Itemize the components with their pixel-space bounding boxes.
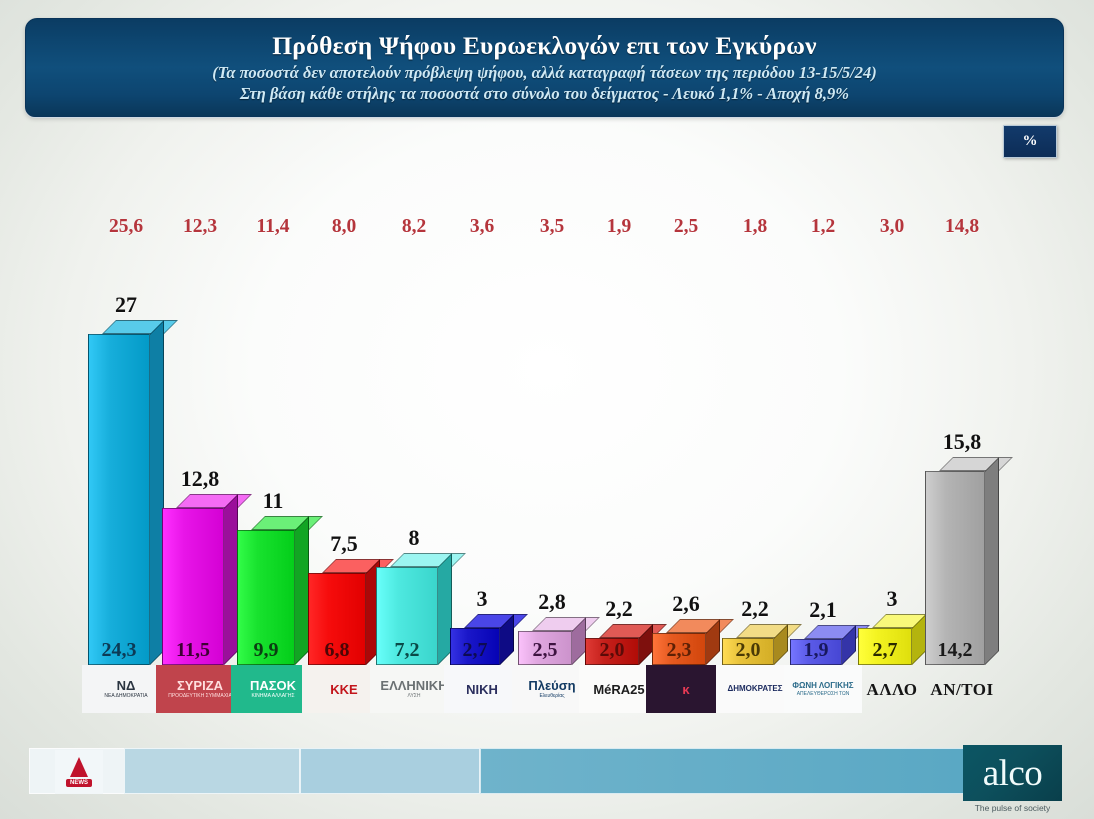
- bar-stack-pasok: 9,9: [237, 530, 309, 665]
- party-logo-box-niki: ΝΙΚΗ: [444, 665, 520, 713]
- party-logo-name-pasok: ΠΑΣΟΚ: [250, 679, 296, 692]
- bar-body-syriza: 11,512,8: [162, 494, 238, 665]
- bar-top-value-elliniki: 8: [376, 525, 452, 551]
- party-logo-name-mera25: MéRA25: [593, 683, 644, 696]
- party-logo-dimokrates: ΔΗΜΟΚΡΑΤΕΣ: [716, 665, 794, 713]
- bar-body-elliniki: 7,28: [376, 553, 452, 665]
- news-label: NEWS: [66, 779, 92, 787]
- bar-top-value-foni-logikis: 2,1: [790, 597, 856, 623]
- top-percent-antoi: 14,8: [913, 216, 1011, 238]
- bar-column-antoi[interactable]: 14,215,8: [925, 457, 999, 665]
- bar-sample-value-dimokrates: 2,0: [723, 639, 773, 662]
- party-logo-foni-logikis: ΦΩΝΗ ΛΟΓΙΚΗΣΑΠΕΛΕΥΘΕΡΩΣΗ ΤΩΝ: [784, 665, 862, 713]
- banner-segment-4: [480, 748, 965, 794]
- bar-sample-value-elliniki: 7,2: [377, 639, 437, 662]
- bar-stack-allo: 2,7: [858, 628, 926, 665]
- bar-stack-mera25: 2,0: [585, 638, 653, 665]
- bar-body-kke-ml: 2,32,6: [652, 619, 720, 665]
- bar-body-antoi: 14,215,8: [925, 457, 999, 665]
- subtitle-line-1: (Τα ποσοστά δεν αποτελούν πρόβλεψη ψήφου…: [26, 63, 1063, 83]
- bar-stack-kke: 6,8: [308, 573, 380, 665]
- bar-body-kke: 6,87,5: [308, 559, 380, 665]
- party-logo-name-niki: ΝΙΚΗ: [466, 683, 498, 696]
- bar-body-allo: 2,73: [858, 614, 926, 665]
- party-logo-subtitle-elliniki: ΛΥΣΗ: [407, 694, 420, 699]
- bar-stack-antoi: 14,2: [925, 471, 999, 665]
- bar-body-foni-logikis: 1,92,1: [790, 625, 856, 665]
- party-logo-niki: ΝΙΚΗ: [444, 665, 520, 713]
- bar-column-pasok[interactable]: 9,911: [237, 516, 309, 665]
- bar-top-value-mera25: 2,2: [585, 596, 653, 622]
- bar-sample-value-niki: 2,7: [451, 639, 499, 662]
- bar-column-plefsi[interactable]: 2,52,8: [518, 617, 586, 665]
- news-channel-logo: NEWS: [55, 750, 103, 794]
- bar-column-nd[interactable]: 24,327: [88, 320, 164, 665]
- bar-body-dimokrates: 2,02,2: [722, 624, 788, 665]
- party-logo-subtitle-syriza: ΠΡΟΟΔΕΥΤΙΚΗ ΣΥΜΜΑΧΙΑ: [168, 694, 232, 699]
- bar-column-syriza[interactable]: 11,512,8: [162, 494, 238, 665]
- bar-front-face-plefsi: 2,5: [518, 631, 572, 665]
- bar-sample-value-nd: 24,3: [89, 639, 149, 662]
- bar-stack-niki: 2,7: [450, 628, 514, 665]
- bar-top-plate-nd: [102, 320, 178, 334]
- bar-top-value-syriza: 12,8: [162, 466, 238, 492]
- bar-column-foni-logikis[interactable]: 1,92,1: [790, 625, 856, 665]
- bar-top-value-kke-ml: 2,6: [652, 591, 720, 617]
- party-logo-subtitle-foni-logikis: ΑΠΕΛΕΥΘΕΡΩΣΗ ΤΩΝ: [797, 692, 850, 697]
- party-logo-name-syriza: ΣΥΡΙΖΑ: [177, 679, 223, 692]
- bar-side-face-pasok: [295, 516, 309, 665]
- alco-wordmark: alco: [983, 755, 1043, 792]
- banner-segment-3: [300, 748, 480, 794]
- bar-front-face-elliniki: 7,2: [376, 567, 438, 665]
- bar-top-value-pasok: 11: [237, 488, 309, 514]
- bar-front-face-pasok: 9,9: [237, 530, 295, 665]
- percent-symbol: %: [1023, 133, 1038, 150]
- party-logo-name-kke-ml: κ: [682, 683, 689, 696]
- bar-top-value-antoi: 15,8: [925, 429, 999, 455]
- party-logo-label-antoi: ΑΝ/ΤΟΙ: [930, 681, 993, 698]
- bar-stack-foni-logikis: 1,9: [790, 639, 856, 665]
- party-logo-name-nd: ΝΔ: [117, 679, 136, 692]
- bar-top-value-dimokrates: 2,2: [722, 596, 788, 622]
- chart-title-banner: Πρόθεση Ψήφου Ευρωεκλογών επι των Εγκύρω…: [25, 18, 1064, 117]
- subtitle-line-2: Στη βάση κάθε στήλης τα ποσοστά στο σύνο…: [26, 84, 1063, 104]
- party-logo-box-antoi: ΑΝ/ΤΟΙ: [919, 665, 1005, 713]
- party-logo-antoi: ΑΝ/ΤΟΙ: [919, 665, 1005, 713]
- bar-stack-plefsi: 2,5: [518, 631, 586, 665]
- bar-stack-elliniki: 7,2: [376, 567, 452, 665]
- party-logo-row: ΝΔΝΕΑ ΔΗΜΟΚΡΑΤΙΑΣΥΡΙΖΑΠΡΟΟΔΕΥΤΙΚΗ ΣΥΜΜΑΧ…: [0, 665, 1094, 717]
- bar-body-pasok: 9,911: [237, 516, 309, 665]
- bar-front-face-antoi: 14,2: [925, 471, 985, 665]
- page-title: Πρόθεση Ψήφου Ευρωεκλογών επι των Εγκύρω…: [26, 31, 1063, 61]
- bar-body-niki: 2,73: [450, 614, 514, 665]
- party-logo-name-foni-logikis: ΦΩΝΗ ΛΟΓΙΚΗΣ: [792, 682, 853, 690]
- alpha-triangle-icon: [70, 757, 88, 777]
- bar-front-face-niki: 2,7: [450, 628, 500, 665]
- bar-top-value-allo: 3: [858, 586, 926, 612]
- bar-column-elliniki[interactable]: 7,28: [376, 553, 452, 665]
- party-logo-name-plefsi: Πλεύση: [528, 679, 575, 692]
- party-logo-subtitle-pasok: ΚΙΝΗΜΑ ΑΛΛΑΓΗΣ: [251, 694, 294, 699]
- bar-stack-syriza: 11,5: [162, 508, 238, 665]
- bar-top-value-nd: 27: [88, 292, 164, 318]
- party-logo-name-kke: ΚΚΕ: [330, 683, 357, 696]
- bar-sample-value-syriza: 11,5: [163, 639, 223, 662]
- bar-front-face-allo: 2,7: [858, 628, 912, 665]
- bar-sample-value-mera25: 2,0: [586, 639, 638, 662]
- bar-sample-value-allo: 2,7: [859, 639, 911, 662]
- bar-top-plate-antoi: [939, 457, 1013, 471]
- bar-front-face-syriza: 11,5: [162, 508, 224, 665]
- bar-side-face-syriza: [224, 494, 238, 665]
- bar-top-value-niki: 3: [450, 586, 514, 612]
- party-logo-subtitle-plefsi: Ελευθερίας: [539, 694, 564, 699]
- party-logo-name-elliniki: ΕΛΛΗΝΙΚΗ: [380, 679, 447, 692]
- bar-body-nd: 24,327: [88, 320, 164, 665]
- bar-stack-kke-ml: 2,3: [652, 633, 720, 665]
- alco-logo: alco: [963, 745, 1062, 801]
- bar-column-dimokrates[interactable]: 2,02,2: [722, 624, 788, 665]
- bar-column-allo[interactable]: 2,73: [858, 614, 926, 665]
- bar-front-face-foni-logikis: 1,9: [790, 639, 842, 665]
- party-logo-box-kke-ml: κ: [646, 665, 726, 713]
- bar-front-face-mera25: 2,0: [585, 638, 639, 665]
- party-logo-name-dimokrates: ΔΗΜΟΚΡΑΤΕΣ: [727, 685, 782, 693]
- footer-banner: [0, 748, 1094, 800]
- party-logo-box-dimokrates: ΔΗΜΟΚΡΑΤΕΣ: [716, 665, 794, 713]
- bar-top-plate-pasok: [251, 516, 323, 530]
- bar-stack-nd: 24,3: [88, 334, 164, 665]
- bar-top-value-kke: 7,5: [308, 531, 380, 557]
- bar-column-kke-ml[interactable]: 2,32,6: [652, 619, 720, 665]
- party-logo-kke-ml: κ: [646, 665, 726, 713]
- bar-sample-value-kke: 6,8: [309, 639, 365, 662]
- bar-front-face-dimokrates: 2,0: [722, 638, 774, 665]
- bar-front-face-nd: 24,3: [88, 334, 150, 665]
- bar-top-plate-elliniki: [390, 553, 466, 567]
- bar-stack-dimokrates: 2,0: [722, 638, 788, 665]
- party-logo-label-allo: ΑΛΛΟ: [867, 681, 918, 698]
- percent-unit-badge: %: [1003, 125, 1057, 158]
- bar-sample-value-antoi: 14,2: [926, 639, 984, 662]
- bar-front-face-kke: 6,8: [308, 573, 366, 665]
- bar-sample-value-pasok: 9,9: [238, 639, 294, 662]
- bar-side-face-antoi: [985, 457, 999, 665]
- bar-top-value-plefsi: 2,8: [518, 589, 586, 615]
- bar-column-mera25[interactable]: 2,02,2: [585, 624, 653, 665]
- bar-front-face-kke-ml: 2,3: [652, 633, 706, 665]
- bar-body-mera25: 2,02,2: [585, 624, 653, 665]
- party-logo-box-foni-logikis: ΦΩΝΗ ΛΟΓΙΚΗΣΑΠΕΛΕΥΘΕΡΩΣΗ ΤΩΝ: [784, 665, 862, 713]
- banner-segment-2: [124, 748, 300, 794]
- bar-column-kke[interactable]: 6,87,5: [308, 559, 380, 665]
- bar-sample-value-kke-ml: 2,3: [653, 639, 705, 662]
- bar-body-plefsi: 2,52,8: [518, 617, 586, 665]
- bar-sample-value-plefsi: 2,5: [519, 639, 571, 662]
- alco-tagline: The pulse of society: [963, 803, 1062, 813]
- bar-sample-value-foni-logikis: 1,9: [791, 639, 841, 662]
- top-percent-row: 25,612,311,48,08,23,63,51,92,51,81,23,01…: [0, 216, 1094, 242]
- bar-column-niki[interactable]: 2,73: [450, 614, 514, 665]
- party-logo-subtitle-nd: ΝΕΑ ΔΗΜΟΚΡΑΤΙΑ: [104, 694, 147, 699]
